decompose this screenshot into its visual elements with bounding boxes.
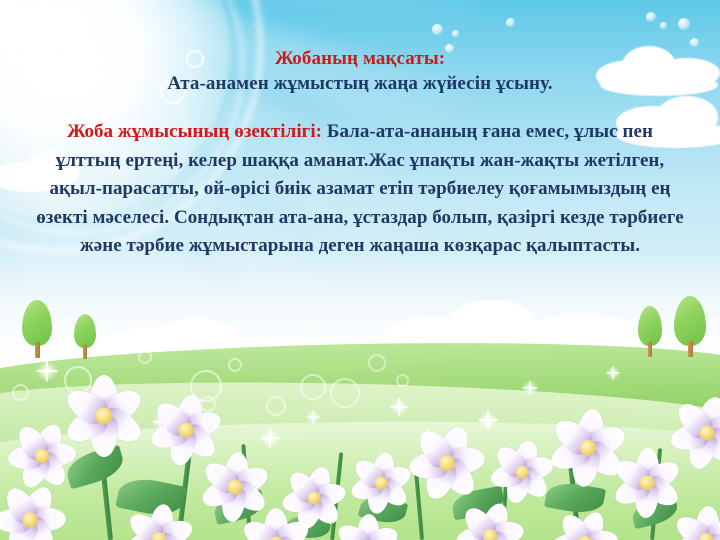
tree-icon bbox=[638, 306, 664, 358]
sparkle-icon bbox=[390, 398, 408, 416]
flower-icon bbox=[0, 480, 70, 540]
slide-subtitle: Ата-анамен жұмыстың жаңа жүйесін ұсыну. bbox=[34, 71, 686, 96]
bubble-ring-icon bbox=[266, 396, 286, 416]
bubble-icon bbox=[432, 24, 443, 35]
slide-text-block: Жобаның мақсаты: Ата-анамен жұмыстың жаң… bbox=[0, 46, 720, 261]
slide-title: Жобаның мақсаты: bbox=[34, 46, 686, 71]
bubble-icon bbox=[452, 30, 459, 37]
flower-icon bbox=[548, 506, 622, 540]
flower-icon bbox=[236, 504, 316, 540]
bubble-ring-icon bbox=[228, 358, 242, 372]
sparkle-icon bbox=[36, 360, 58, 382]
bubble-ring-icon bbox=[330, 378, 360, 408]
flower-icon bbox=[120, 500, 198, 540]
bubble-ring-icon bbox=[300, 374, 326, 400]
tree-icon bbox=[674, 296, 708, 358]
sparkle-icon bbox=[606, 366, 620, 380]
slide-body-paragraph: Жоба жұмысының өзектілігі: Бала-ата-анан… bbox=[34, 118, 686, 261]
bubble-ring-icon bbox=[368, 354, 386, 372]
bubble-icon bbox=[678, 18, 690, 30]
bubble-ring-icon bbox=[138, 350, 152, 364]
flower-icon bbox=[668, 502, 720, 540]
tree-icon bbox=[22, 300, 54, 358]
sparkle-icon bbox=[522, 380, 538, 396]
bubble-ring-icon bbox=[12, 384, 29, 401]
text-spacer bbox=[34, 96, 686, 118]
bubble-icon bbox=[660, 22, 667, 29]
tree-icon bbox=[74, 314, 98, 360]
sparkle-icon bbox=[260, 428, 280, 448]
flower-icon bbox=[404, 420, 490, 506]
bubble-icon bbox=[506, 18, 515, 27]
bubble-icon bbox=[646, 12, 656, 22]
bubble-ring-icon bbox=[396, 374, 409, 387]
flower-icon bbox=[666, 392, 720, 474]
body-lead-label: Жоба жұмысының өзектілігі: bbox=[67, 121, 322, 142]
presentation-slide: Жобаның мақсаты: Ата-анамен жұмыстың жаң… bbox=[0, 0, 720, 540]
sparkle-icon bbox=[306, 410, 320, 424]
flower-icon bbox=[452, 498, 528, 540]
flower-icon bbox=[330, 510, 404, 540]
